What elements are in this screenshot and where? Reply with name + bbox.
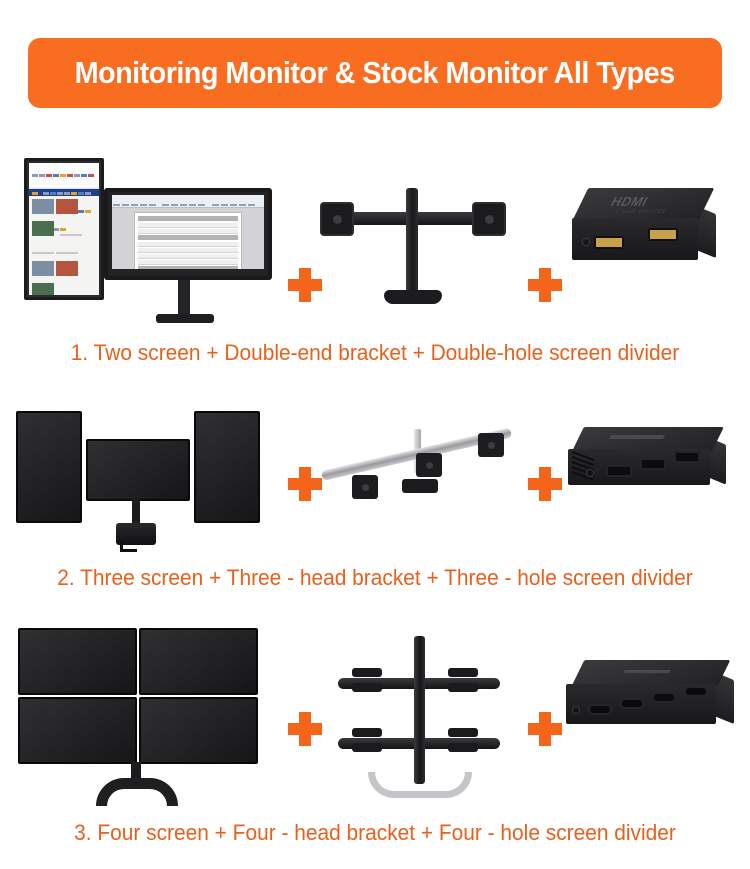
splitter-top-face bbox=[572, 427, 724, 451]
video-port bbox=[620, 698, 644, 709]
screen-right bbox=[194, 411, 260, 523]
product-row-3-images bbox=[0, 622, 750, 812]
screen-center bbox=[86, 439, 190, 501]
row-3-caption: 3. Four screen + Four - head bracket + F… bbox=[19, 820, 732, 846]
bracket-base bbox=[384, 290, 442, 304]
landscape-monitor bbox=[104, 188, 272, 280]
three-head-bracket-image bbox=[318, 413, 518, 525]
video-port bbox=[684, 686, 708, 697]
hdmi-sub-label: 2 PORT SPLITTER bbox=[615, 209, 667, 215]
screen-bottom-left bbox=[18, 697, 137, 764]
splitter-brand-label bbox=[609, 435, 665, 439]
bracket-clamp-foot bbox=[402, 479, 438, 493]
monitor-stand-neck bbox=[178, 280, 190, 316]
web-nav-strip bbox=[29, 163, 99, 189]
vesa-mount-2 bbox=[416, 453, 442, 477]
screen-top-left bbox=[18, 628, 137, 695]
three-screen-setup-image bbox=[14, 405, 282, 545]
double-end-bracket-image bbox=[320, 180, 510, 310]
product-row-1-images: HDMI 2 PORT SPLITTER bbox=[0, 140, 750, 315]
hdmi-port bbox=[640, 458, 666, 470]
two-screen-setup-image bbox=[16, 158, 278, 330]
monitor-stand-base bbox=[156, 314, 214, 323]
video-port bbox=[652, 692, 676, 703]
monitor-stand-arch-base bbox=[96, 778, 178, 806]
power-jack bbox=[582, 238, 590, 246]
four-hole-screen-divider-image bbox=[558, 660, 744, 770]
four-screen-setup-image bbox=[18, 628, 280, 808]
desk-clamp bbox=[116, 523, 156, 545]
vent-slots bbox=[572, 455, 598, 481]
screen-grid bbox=[18, 628, 258, 764]
hdmi-port bbox=[606, 465, 632, 477]
plus-icon bbox=[528, 467, 562, 501]
splitter-brand-label bbox=[623, 670, 670, 673]
page-title: Monitoring Monitor & Stock Monitor All T… bbox=[75, 55, 675, 91]
video-port bbox=[588, 704, 612, 715]
row-2-caption: 2. Three screen + Three - head bracket +… bbox=[19, 565, 732, 591]
plus-icon bbox=[288, 467, 322, 501]
screen-top-right bbox=[139, 628, 258, 695]
screen-left bbox=[16, 411, 82, 523]
product-row-1: HDMI 2 PORT SPLITTER 1. Two screen + Dou… bbox=[0, 140, 750, 365]
plus-icon bbox=[288, 712, 322, 746]
portrait-monitor bbox=[24, 158, 104, 300]
vesa-mount-1 bbox=[352, 668, 382, 692]
document-page bbox=[134, 212, 242, 269]
document-toolbar bbox=[112, 195, 264, 208]
screen-bottom-right bbox=[139, 697, 258, 764]
bracket-pole bbox=[414, 636, 425, 784]
vesa-mount-3 bbox=[352, 728, 382, 752]
product-row-3: 3. Four screen + Four - head bracket + F… bbox=[0, 622, 750, 867]
product-row-2: 2. Three screen + Three - head bracket +… bbox=[0, 395, 750, 610]
four-head-bracket-image bbox=[330, 636, 506, 808]
three-hole-screen-divider-image bbox=[562, 425, 742, 523]
hdmi-port bbox=[648, 228, 678, 241]
header-banner: Monitoring Monitor & Stock Monitor All T… bbox=[28, 38, 722, 108]
row-1-caption: 1. Two screen + Double-end bracket + Dou… bbox=[19, 340, 732, 366]
bracket-curved-base bbox=[368, 772, 472, 798]
hdmi-logo-text: HDMI bbox=[608, 194, 651, 209]
vesa-mount-1 bbox=[352, 475, 378, 499]
vesa-mount-3 bbox=[478, 433, 504, 457]
landscape-monitor-screen bbox=[112, 195, 264, 269]
hdmi-port bbox=[674, 451, 700, 463]
vesa-mount-2 bbox=[448, 668, 478, 692]
vesa-mount-right bbox=[472, 202, 506, 236]
product-row-2-images bbox=[0, 395, 750, 545]
plus-icon bbox=[288, 268, 322, 302]
portrait-monitor-screen bbox=[29, 163, 99, 295]
splitter-top-face bbox=[572, 660, 731, 686]
double-hole-screen-divider-image: HDMI 2 PORT SPLITTER bbox=[568, 188, 728, 298]
bracket-pole bbox=[406, 188, 418, 292]
hdmi-port bbox=[594, 236, 624, 249]
splitter-front-face bbox=[572, 218, 698, 260]
vesa-mount-left bbox=[320, 202, 354, 236]
power-jack bbox=[586, 469, 594, 477]
power-jack bbox=[572, 706, 580, 714]
vesa-mount-4 bbox=[448, 728, 478, 752]
plus-icon bbox=[528, 712, 562, 746]
plus-icon bbox=[528, 268, 562, 302]
